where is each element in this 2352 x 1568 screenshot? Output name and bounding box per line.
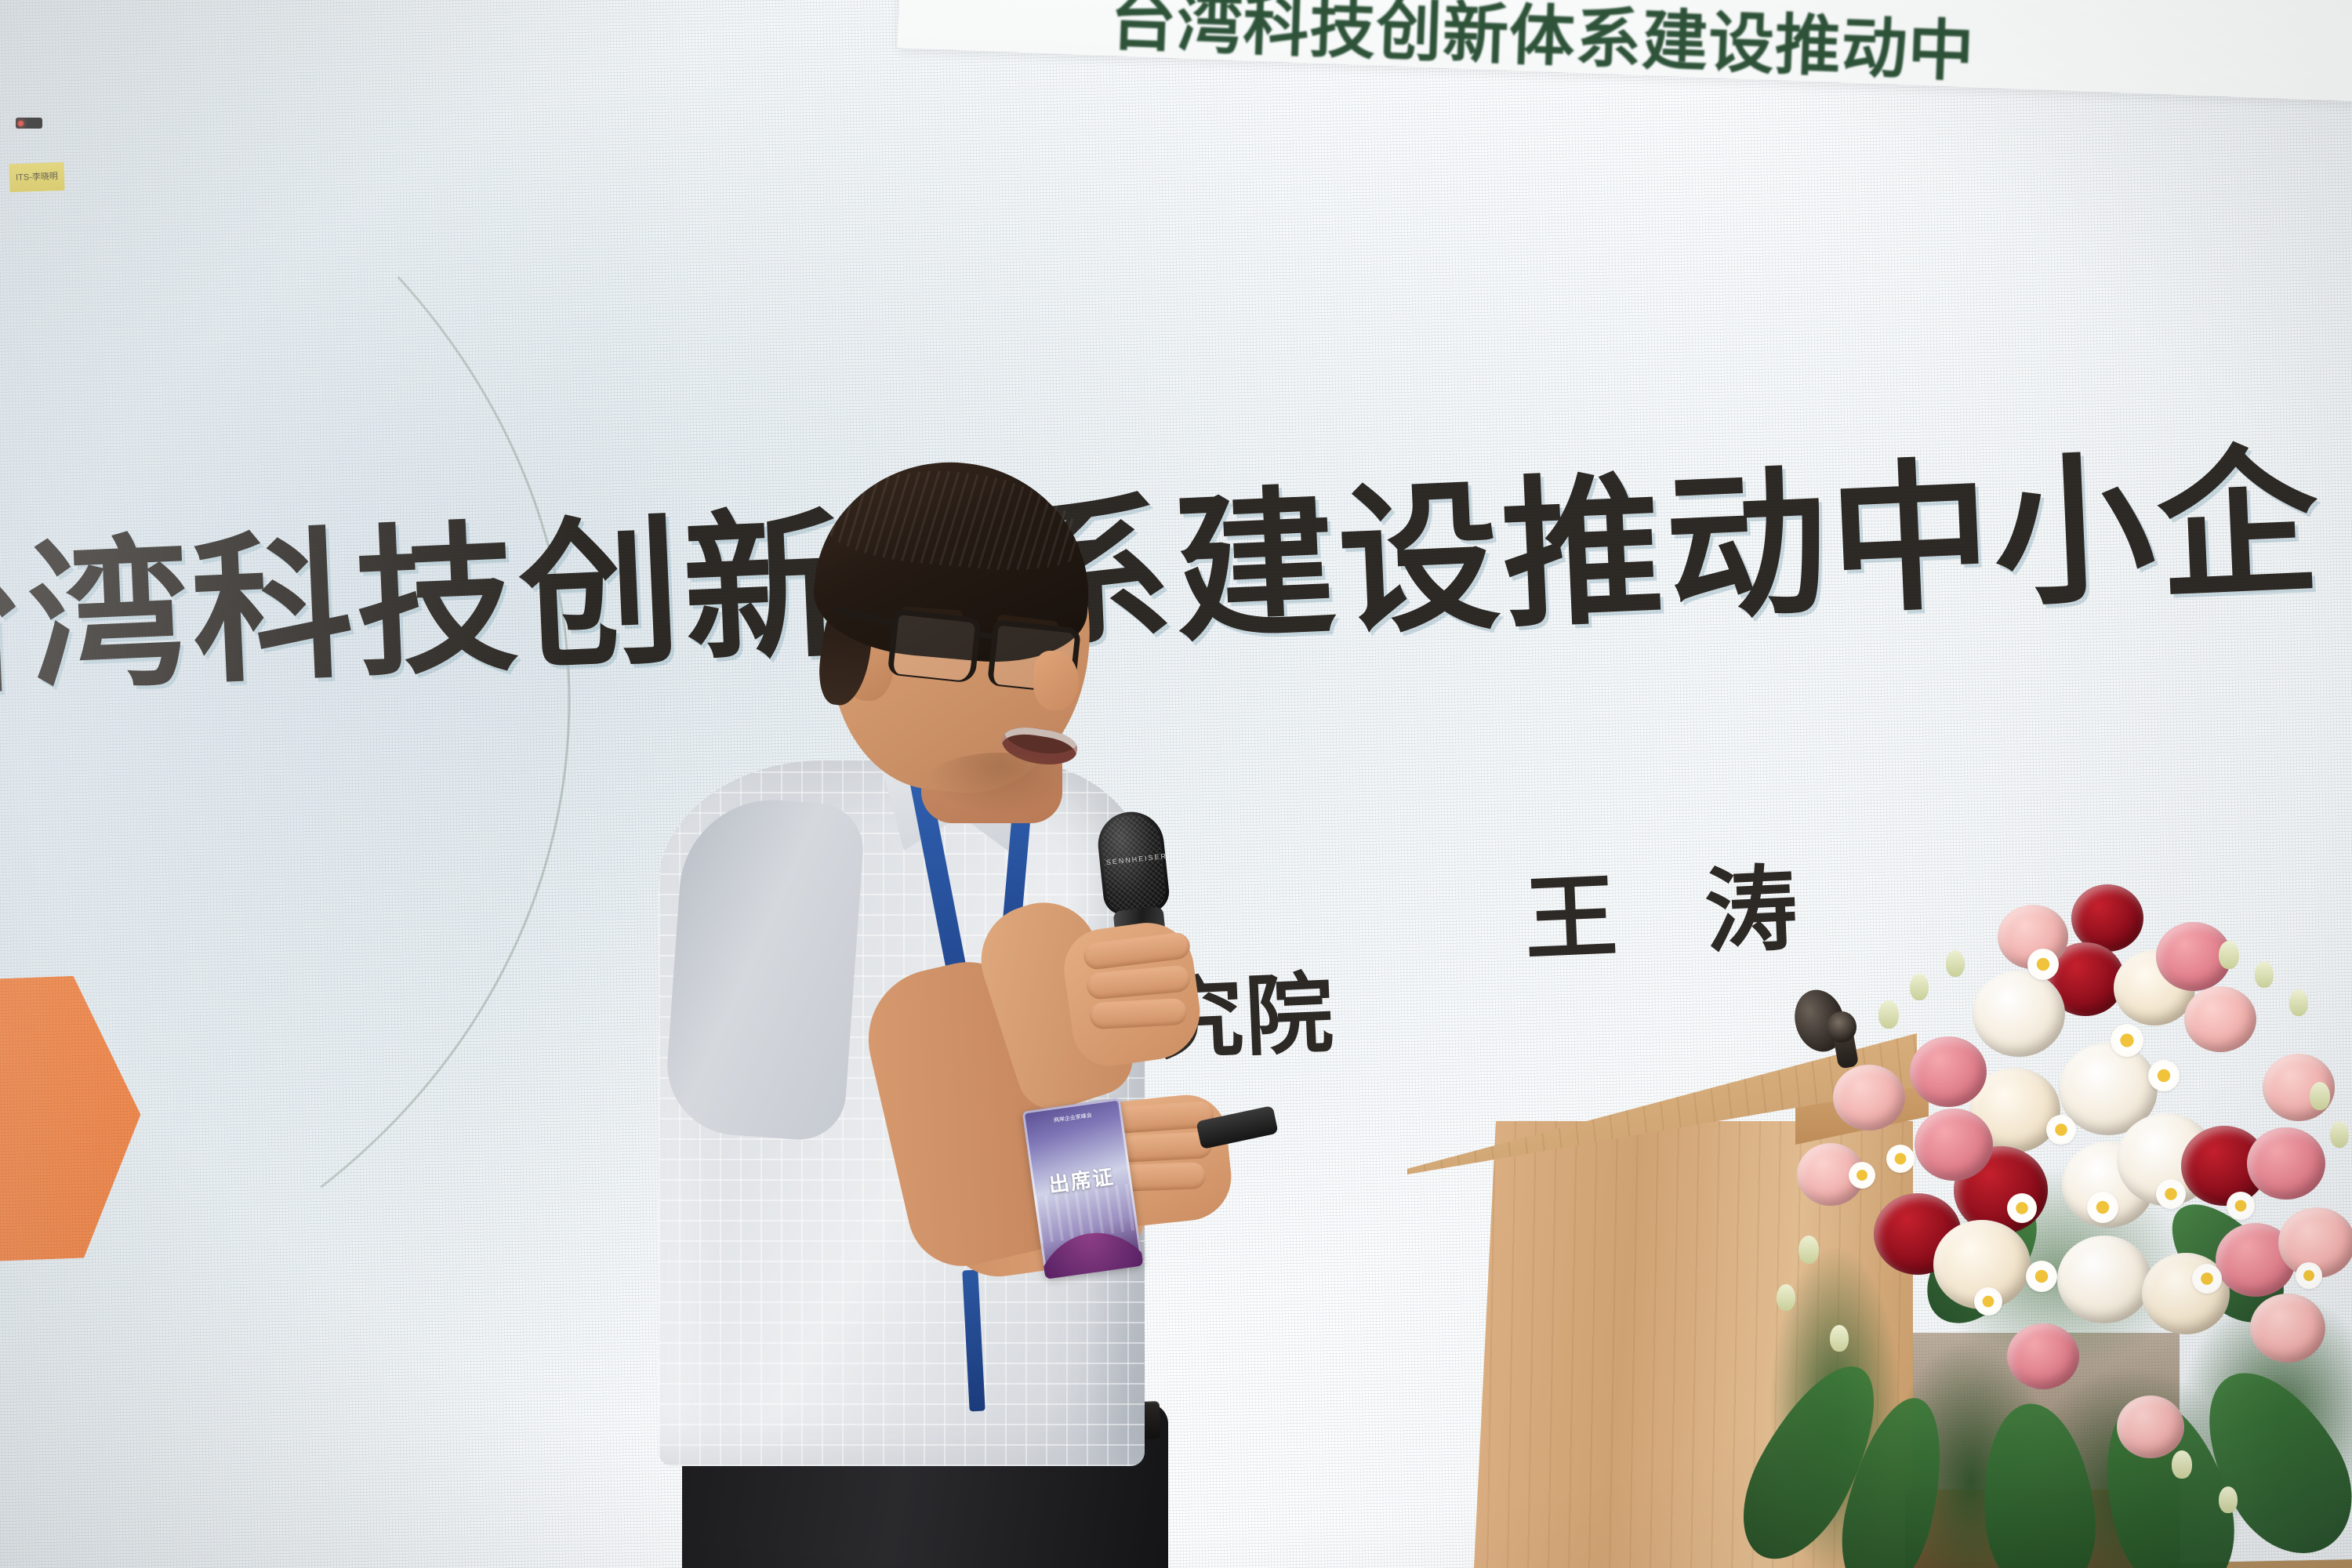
microphone-brand-label: SENNHEISER (1105, 851, 1166, 868)
stock-bud (1777, 1284, 1795, 1311)
shirt-sleeve (662, 794, 866, 1143)
pink-lisianthus (2247, 1127, 2325, 1200)
chamomile-daisy (2007, 1193, 2037, 1223)
white-rose (2057, 1236, 2151, 1323)
nose (1033, 651, 1079, 710)
pink-rose (2117, 1396, 2184, 1458)
stock-bud (1910, 974, 1929, 1000)
pink-lisianthus (1910, 1036, 1987, 1107)
badge-header-text: 两岸企业家峰会 (1029, 1108, 1119, 1148)
photo-stage: 台湾科技创新体系建设推动中小企 王 涛 学台湾研究院 关系和 台湾科技创新体系建… (0, 0, 2352, 1568)
stock-bud (2310, 1082, 2330, 1110)
chamomile-daisy (1849, 1162, 1875, 1189)
pink-lisianthus (2184, 986, 2256, 1052)
white-rose (1973, 971, 2065, 1057)
flower-arrangement (1748, 855, 2352, 1568)
microphone-id-label: ITS-李晓明 (9, 162, 64, 192)
microphone-status-led (16, 118, 42, 129)
chamomile-daisy (2046, 1115, 2076, 1145)
stock-bud (1878, 1000, 1899, 1029)
microphone-grille-icon: SENNHEISER (1095, 808, 1171, 916)
chamomile-daisy (2111, 1024, 2143, 1057)
chamomile-daisy (2192, 1264, 2222, 1294)
stock-bud (1830, 1325, 1849, 1352)
chamomile-daisy (1886, 1145, 1915, 1173)
pink-lisianthus (1915, 1109, 1993, 1181)
pink-lisianthus (2007, 1323, 2079, 1389)
pink-rose (1833, 1065, 1905, 1131)
chamomile-daisy (2227, 1192, 2255, 1220)
chamomile-daisy (1974, 1287, 2002, 1316)
stock-bud (2172, 1450, 2192, 1479)
chin-shadow (925, 753, 1074, 815)
pink-lisianthus (2250, 1294, 2325, 1363)
red-rose (2071, 884, 2143, 952)
stock-bud (2289, 989, 2308, 1016)
stock-bud (2219, 941, 2239, 969)
stock-bud (1946, 950, 1965, 977)
chamomile-daisy (2026, 1261, 2057, 1292)
stock-bud (2330, 1121, 2349, 1148)
chamomile-daisy (2296, 1262, 2322, 1289)
stock-bud (2255, 961, 2274, 988)
chamomile-daisy (2027, 949, 2059, 980)
chamomile-daisy (2148, 1060, 2180, 1091)
glasses-lens-left (887, 609, 982, 684)
chamomile-daisy (2087, 1192, 2118, 1223)
stock-bud (2219, 1486, 2238, 1513)
finger (1089, 998, 1188, 1029)
stock-bud (1798, 1236, 1819, 1264)
chamomile-daisy (2156, 1179, 2186, 1209)
